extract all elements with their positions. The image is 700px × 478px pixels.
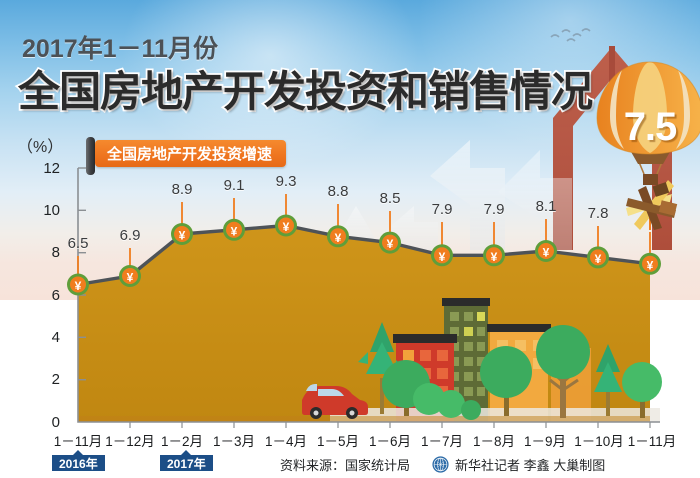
y-tick-4: 4 xyxy=(34,329,60,346)
svg-text:¥: ¥ xyxy=(231,224,238,238)
balloon-value: 7.5 xyxy=(610,105,690,150)
y-tick-6: 6 xyxy=(34,287,60,304)
y-tick-2: 2 xyxy=(34,371,60,388)
footer-source: 资料来源：国家统计局 xyxy=(280,455,410,474)
svg-text:¥: ¥ xyxy=(75,279,82,293)
data-label-5: 8.8 xyxy=(315,183,361,200)
svg-text:¥: ¥ xyxy=(543,246,550,260)
legend-label: 全国房地产开发投资增速 xyxy=(95,140,286,167)
page-title: 全国房地产开发投资和销售情况 xyxy=(18,58,592,119)
xinhua-logo xyxy=(432,456,449,473)
svg-text:¥: ¥ xyxy=(179,229,186,243)
y-tick-12: 12 xyxy=(34,160,60,177)
y-axis-unit: （%） xyxy=(17,133,63,157)
round-tree-icon xyxy=(437,390,465,418)
svg-text:¥: ¥ xyxy=(335,231,342,245)
legend: 全国房地产开发投资增速 xyxy=(86,140,286,167)
footer: 资料来源：国家统计局 新华社记者 李鑫 大巢制图 xyxy=(280,455,605,474)
data-label-8: 7.9 xyxy=(471,201,517,218)
svg-text:¥: ¥ xyxy=(283,220,290,234)
svg-text:¥: ¥ xyxy=(491,250,498,264)
round-tree-icon xyxy=(461,400,481,420)
year-badge-2016: 2016年 xyxy=(52,455,105,471)
year-badge-2017: 2017年 xyxy=(160,455,213,471)
svg-text:¥: ¥ xyxy=(387,237,394,251)
data-label-3: 9.1 xyxy=(211,177,257,194)
svg-text:¥: ¥ xyxy=(439,250,446,264)
data-label-7: 7.9 xyxy=(419,201,465,218)
data-label-0: 6.5 xyxy=(55,235,101,252)
svg-text:¥: ¥ xyxy=(595,252,602,266)
data-label-4: 9.3 xyxy=(263,173,309,190)
legend-pole-icon xyxy=(86,137,95,175)
data-label-9: 8.1 xyxy=(523,198,569,215)
y-tick-10: 10 xyxy=(34,202,60,219)
data-label-2: 8.9 xyxy=(159,181,205,198)
data-label-6: 8.5 xyxy=(367,190,413,207)
svg-text:¥: ¥ xyxy=(127,271,134,285)
data-label-10: 7.8 xyxy=(575,205,621,222)
infographic-root: ¥ ¥ ¥ ¥ ¥ ¥ ¥ ¥ ¥ ¥ xyxy=(0,0,700,478)
y-tick-0: 0 xyxy=(34,414,60,431)
birds-icon xyxy=(551,29,590,41)
x-tick-11: 1－11月 xyxy=(620,430,684,450)
svg-text:¥: ¥ xyxy=(647,258,654,272)
footer-credit: 新华社记者 李鑫 大巢制图 xyxy=(455,455,605,474)
data-label-1: 6.9 xyxy=(107,227,153,244)
